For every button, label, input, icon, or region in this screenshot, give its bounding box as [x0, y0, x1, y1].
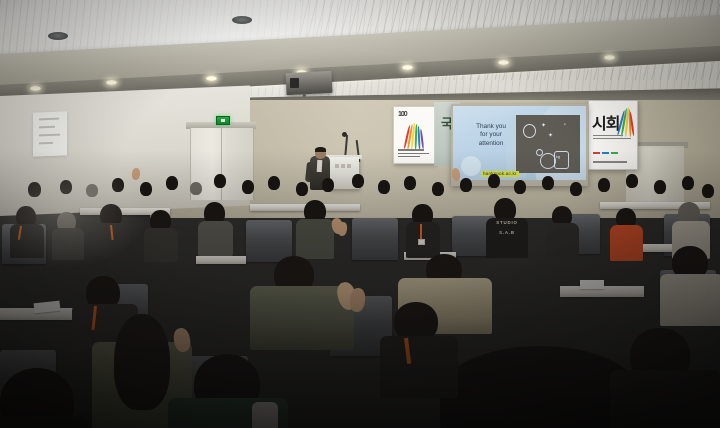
vignette	[0, 0, 720, 428]
conference-hall-photo: 100 국 시회	[0, 0, 720, 428]
